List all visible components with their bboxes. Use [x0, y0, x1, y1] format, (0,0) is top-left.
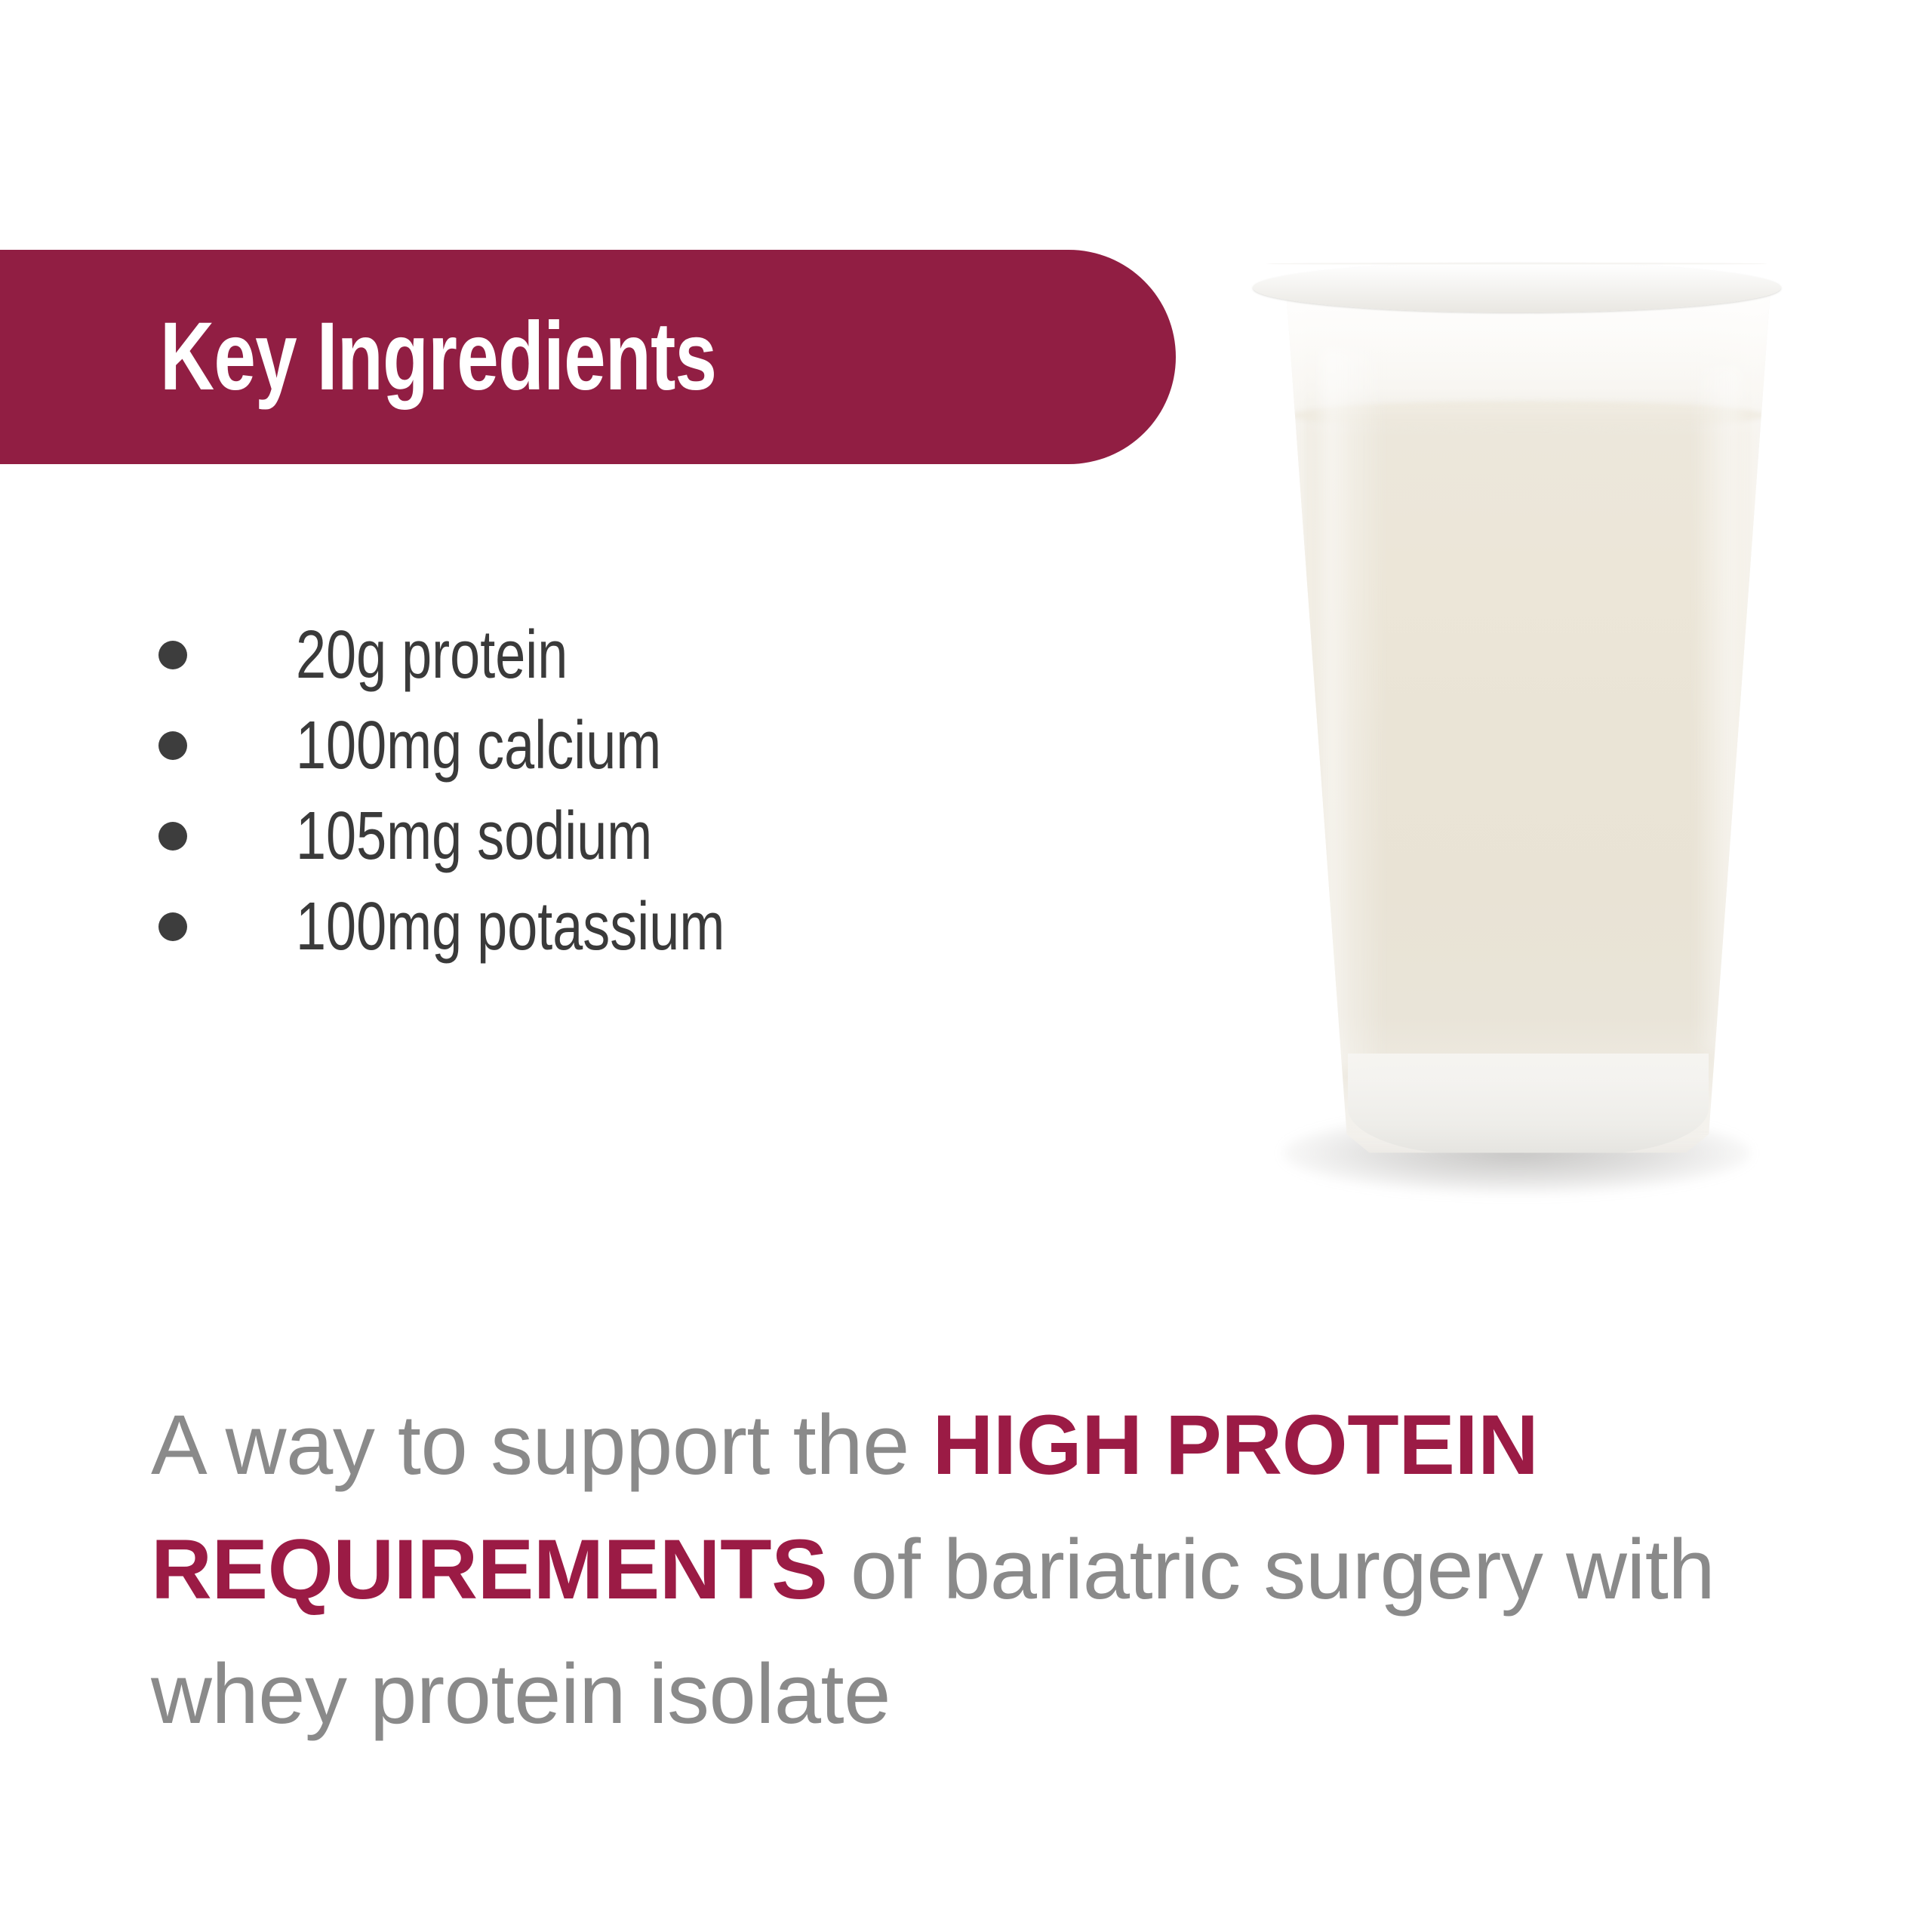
ingredients-list: 20g protein 100mg calcium 105mg sodium 1… [148, 610, 1054, 972]
glass-base [1348, 1054, 1709, 1155]
statement-text: A way to support the HIGH PROTEIN REQUIR… [151, 1383, 1796, 1756]
protein-shake-glass-image [1253, 272, 1781, 1200]
list-item: 20g protein [148, 610, 1054, 700]
list-item: 105mg sodium [148, 791, 1054, 881]
glass-highlight-left [1322, 349, 1386, 1069]
list-item: 100mg calcium [148, 700, 1054, 791]
bullet-icon [158, 822, 187, 851]
glass-body [1283, 278, 1774, 1156]
banner-title: Key Ingredients [160, 309, 716, 405]
bullet-icon [158, 731, 187, 760]
list-item: 100mg potassium [148, 881, 1054, 972]
glass-rim-inner [1266, 263, 1767, 265]
bullet-icon [158, 641, 187, 669]
glass-rim [1253, 263, 1781, 312]
ingredient-label: 100mg calcium [296, 712, 661, 780]
ingredient-label: 100mg potassium [296, 893, 724, 961]
ingredient-label: 105mg sodium [296, 802, 652, 870]
ingredient-label: 20g protein [296, 621, 568, 689]
glass-highlight-right [1690, 366, 1740, 1051]
marketing-card: Key Ingredients 20g protein 100mg calciu… [0, 0, 1932, 1932]
bullet-icon [158, 912, 187, 941]
key-ingredients-banner: Key Ingredients [0, 250, 1176, 464]
statement-part: A way to support the [151, 1398, 932, 1492]
